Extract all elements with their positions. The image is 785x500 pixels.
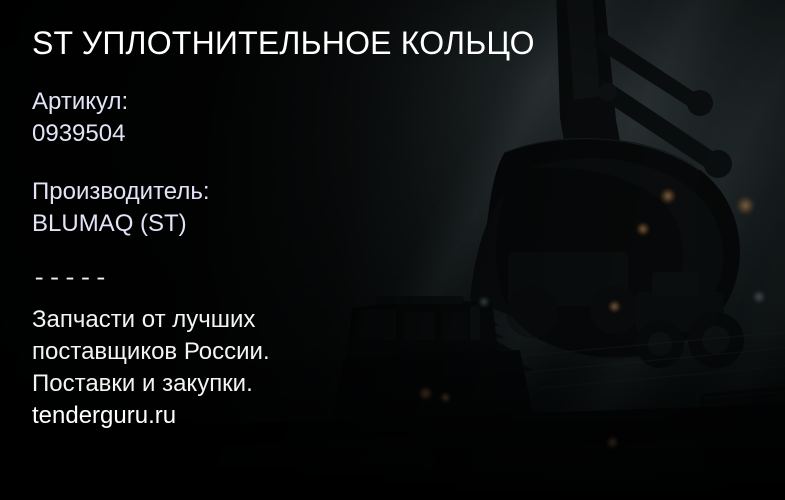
article-value: 0939504 — [32, 118, 128, 150]
page-title: ST УПЛОТНИТЕЛЬНОЕ КОЛЬЦО — [32, 26, 535, 61]
bokeh-light — [752, 290, 766, 304]
tagline-line-3: Поставки и закупки. — [32, 368, 270, 400]
article-label: Артикул: — [32, 86, 128, 118]
manufacturer-field: Производитель: BLUMAQ (ST) — [32, 176, 210, 239]
bokeh-light — [608, 300, 621, 313]
product-banner: ST УПЛОТНИТЕЛЬНОЕ КОЛЬЦО Артикул: 093950… — [0, 0, 785, 500]
tagline-line-2: поставщиков России. — [32, 336, 270, 368]
bokeh-light — [660, 188, 676, 204]
banner-content: ST УПЛОТНИТЕЛЬНОЕ КОЛЬЦО Артикул: 093950… — [32, 0, 502, 500]
article-field: Артикул: 0939504 — [32, 86, 128, 149]
separator: ----- — [32, 268, 109, 292]
tagline-line-1: Запчасти от лучших — [32, 304, 270, 336]
manufacturer-value: BLUMAQ (ST) — [32, 208, 210, 240]
site-url: tenderguru.ru — [32, 400, 270, 432]
bokeh-light — [606, 436, 619, 449]
tagline-block: Запчасти от лучших поставщиков России. П… — [32, 304, 270, 432]
bokeh-light — [736, 196, 755, 215]
manufacturer-label: Производитель: — [32, 176, 210, 208]
bokeh-light — [636, 222, 650, 236]
